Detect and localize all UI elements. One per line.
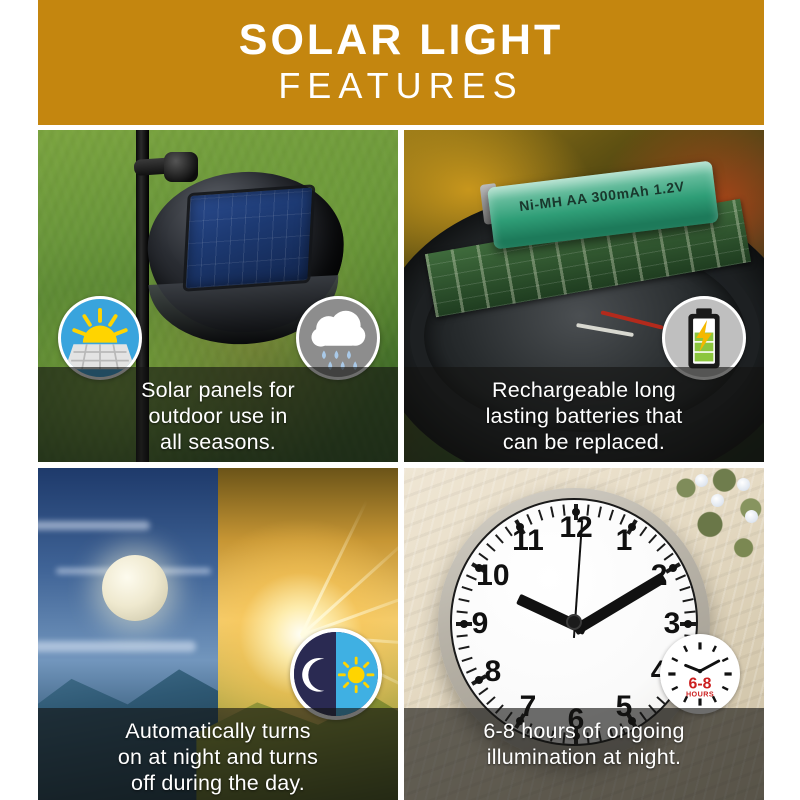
battery-label: Ni-MH AA 300mAh 1.2V <box>489 174 715 217</box>
clock-numeral: 3 <box>664 607 681 641</box>
clock-tick <box>462 586 473 591</box>
clock-hour-dot <box>516 523 524 531</box>
clock-hour-dot <box>572 508 580 516</box>
page-header: SOLAR LIGHT FEATURES <box>38 0 764 125</box>
feature-panel-solar-panels: Solar panels for outdoor use in all seas… <box>38 130 398 462</box>
clock-hours-label-secondary: HOURS <box>686 689 714 698</box>
cloud-streak <box>38 641 196 652</box>
clock-numeral: 2 <box>651 559 668 593</box>
caption-line: Rechargeable long <box>418 377 750 403</box>
clock-numeral: 12 <box>559 511 592 545</box>
clock-tick <box>458 598 469 602</box>
caption-line: illumination at night. <box>418 744 750 770</box>
lamp-joint <box>164 152 198 182</box>
caption-line: outdoor use in <box>52 403 384 429</box>
clock-tick <box>682 598 693 602</box>
clock-hour-dot <box>475 564 483 572</box>
clock-tick <box>457 634 468 637</box>
sun-ray <box>300 534 398 637</box>
clock-tick <box>648 534 657 544</box>
caption-line: can be replaced. <box>418 429 750 455</box>
caption-line: on at night and turns <box>52 744 384 770</box>
clock-hour-dot <box>684 620 692 628</box>
page-title: SOLAR LIGHT <box>239 19 563 63</box>
caption-line: off during the day. <box>52 770 384 796</box>
clock-hour-dot <box>628 523 636 531</box>
clock-tick <box>598 506 602 517</box>
caption-line: Solar panels for <box>52 377 384 403</box>
clock-tick <box>458 646 469 650</box>
clock-tick <box>538 510 543 521</box>
caption-rechargeable-batteries: Rechargeable long lasting batteries that… <box>404 367 764 462</box>
feature-grid: Solar panels for outdoor use in all seas… <box>38 130 764 800</box>
caption-solar-panels: Solar panels for outdoor use in all seas… <box>38 367 398 462</box>
day-night-icon <box>290 628 382 720</box>
clock-tick <box>675 574 686 580</box>
clock-tick <box>639 526 647 536</box>
clock-tick <box>486 543 496 552</box>
clock-tick <box>462 657 473 662</box>
infographic-page: SOLAR LIGHT FEATURES <box>0 0 800 800</box>
flower <box>745 510 758 523</box>
caption-runtime-hours: 6-8 hours of ongoing illumination at nig… <box>404 708 764 800</box>
feature-panel-rechargeable-batteries: Ni-MH AA 300mAh 1.2V <box>404 130 764 462</box>
clock-tick <box>495 534 504 544</box>
clock-numeral: 8 <box>485 655 502 689</box>
caption-line: Automatically turns <box>52 718 384 744</box>
clock-tick <box>457 610 468 613</box>
solar-cell <box>186 187 313 288</box>
clock-tick <box>656 543 666 552</box>
clock-tick <box>679 586 690 591</box>
flower <box>695 474 708 487</box>
moon <box>102 555 168 621</box>
flower <box>711 494 724 507</box>
caption-line: 6-8 hours of ongoing <box>418 718 750 744</box>
flower <box>737 478 750 491</box>
clock-tick <box>550 506 554 517</box>
clock-tick <box>486 696 496 705</box>
caption-line: lasting batteries that <box>418 403 750 429</box>
clock-hour-dot <box>475 676 483 684</box>
clock-hour-dot <box>460 620 468 628</box>
clock-numeral: 9 <box>472 607 489 641</box>
clock-tick <box>609 510 614 521</box>
clock-hours-icon: 6-8 HOURS <box>660 634 740 714</box>
clock-tick <box>684 610 695 613</box>
clock-center-pin <box>566 614 582 630</box>
clock-tick <box>656 696 666 705</box>
clock-hour-dot <box>669 564 677 572</box>
caption-line: all seasons. <box>52 429 384 455</box>
cloud-streak <box>38 521 150 530</box>
clock-tick <box>466 667 477 673</box>
feature-panel-auto-day-night: Automatically turns on at night and turn… <box>38 468 398 800</box>
feature-panel-runtime-hours: 123456789101112 <box>404 468 764 800</box>
page-subtitle: FEATURES <box>278 65 523 106</box>
caption-auto-day-night: Automatically turns on at night and turn… <box>38 708 398 800</box>
